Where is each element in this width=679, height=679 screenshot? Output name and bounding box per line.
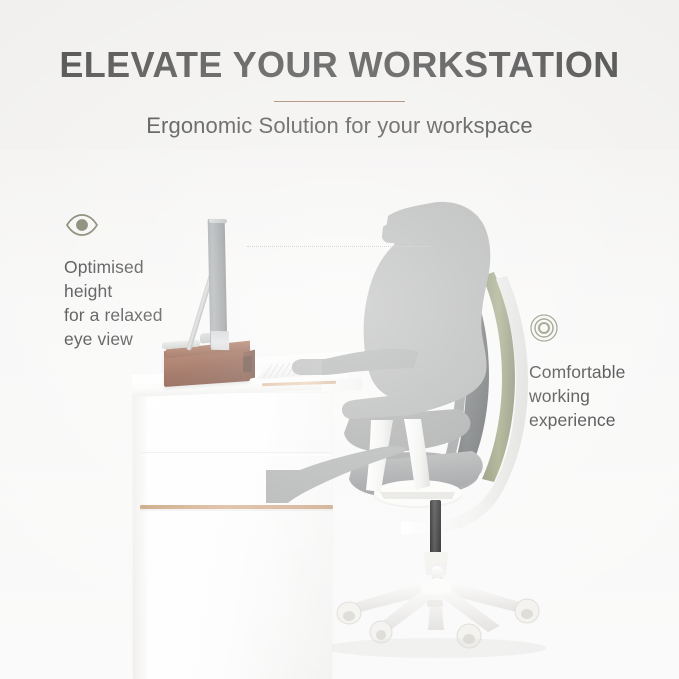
concentric-circles-icon (529, 313, 625, 348)
eye-level-dotted-line (247, 246, 433, 247)
page-title: ELEVATE YOUR WORKSTATION (0, 44, 679, 86)
callout-comfortable-working-text: Comfortable working experience (529, 360, 625, 432)
callout-optimised-height: Optimised height for a relaxed eye view (64, 212, 163, 351)
page-subtitle: Ergonomic Solution for your workspace (0, 112, 679, 140)
eye-icon (64, 212, 163, 243)
callout-optimised-height-text: Optimised height for a relaxed eye view (64, 255, 163, 351)
callout-comfortable-working: Comfortable working experience (529, 313, 625, 432)
poster-canvas: ELEVATE YOUR WORKSTATION Ergonomic Solut… (0, 0, 679, 679)
title-divider (274, 101, 405, 102)
